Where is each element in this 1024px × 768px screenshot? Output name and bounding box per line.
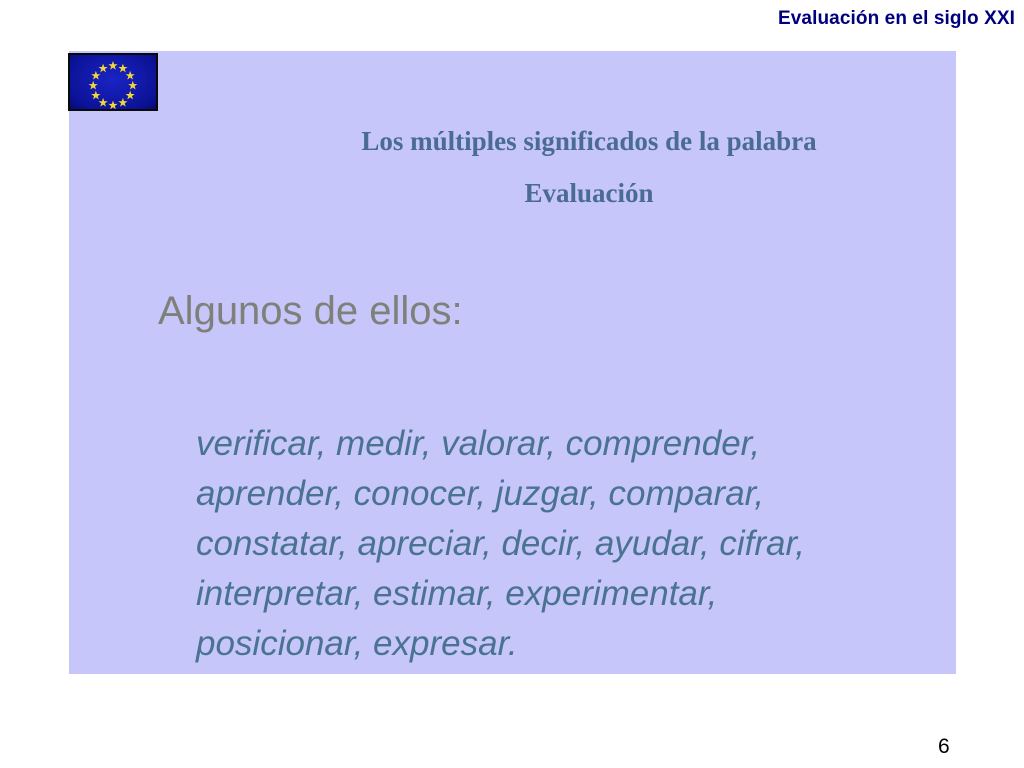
slide-title: Los múltiples significados de la palabra…	[239, 115, 939, 219]
body-line: constatar, apreciar, decir, ayudar, cifr…	[196, 519, 996, 569]
page-number: 6	[938, 735, 950, 759]
slide-running-header: Evaluación en el siglo XXI	[778, 8, 1015, 30]
slide-title-line-2: Evaluación	[239, 167, 939, 219]
eu-flag-stars	[70, 55, 156, 109]
european-union-flag-icon	[68, 53, 158, 111]
lead-text: Algunos de ellos:	[158, 289, 463, 334]
body-text-block: verificar, medir, valorar, comprender, a…	[196, 419, 996, 669]
body-line: posicionar, expresar.	[196, 619, 996, 669]
body-line: interpretar, estimar, experimentar,	[196, 569, 996, 619]
slide-content-panel: Los múltiples significados de la palabra…	[69, 51, 956, 674]
body-line: verificar, medir, valorar, comprender,	[196, 419, 996, 469]
body-line: aprender, conocer, juzgar, comparar,	[196, 469, 996, 519]
slide-title-line-1: Los múltiples significados de la palabra	[361, 126, 816, 156]
